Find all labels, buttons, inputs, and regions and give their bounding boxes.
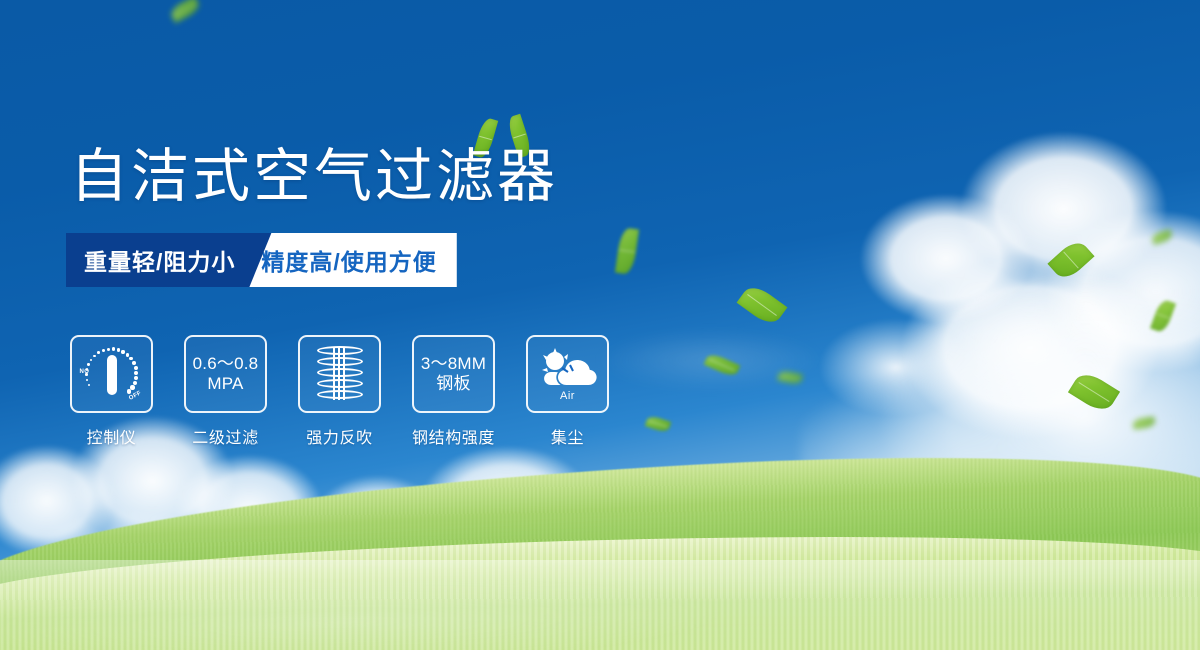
feature-label: 钢结构强度	[412, 424, 495, 448]
pressure-text-icon: 0.6〜0.8 MPA	[193, 354, 259, 394]
feature-icon-box	[298, 335, 381, 413]
feature-icon-box: Air	[526, 335, 609, 413]
feature-item-steel[interactable]: 3〜8MM 钢板 钢结构强度	[412, 335, 495, 448]
leaf-icon	[704, 352, 741, 379]
feature-label: 控制仪	[87, 424, 137, 448]
tagline-badge: 重量轻/阻力小 精度高/使用方便	[66, 233, 457, 287]
coil-ring	[317, 357, 363, 366]
gauge-tick	[127, 389, 131, 393]
leaf-icon	[777, 370, 803, 386]
gauge-tick	[107, 348, 110, 351]
tagline-badge-right: 精度高/使用方便	[249, 233, 456, 287]
hero-banner: 自洁式空气过滤器 重量轻/阻力小 精度高/使用方便 NO OFF 控制仪 0.6…	[0, 0, 1200, 650]
leaf-icon	[1047, 237, 1094, 283]
gauge-tick	[130, 385, 134, 389]
tagline-badge-left: 重量轻/阻力小	[66, 233, 271, 287]
cloud-sun-glyph	[537, 346, 599, 388]
leaf-icon	[615, 227, 639, 275]
gauge-tick	[112, 347, 115, 350]
gauge-tick	[117, 348, 120, 351]
gauge-tick	[85, 373, 87, 375]
steel-text-icon: 3〜8MM 钢板	[421, 354, 486, 394]
gauge-tick	[97, 351, 100, 354]
coil-ring	[317, 346, 363, 355]
feature-item-pressure[interactable]: 0.6〜0.8 MPA 二级过滤	[184, 335, 267, 448]
feature-item-dust[interactable]: Air 集尘	[526, 335, 609, 448]
gauge-tick	[90, 359, 93, 362]
leaf-icon	[1132, 417, 1155, 430]
gauge-tick	[134, 366, 138, 370]
coil-ring	[317, 379, 363, 388]
feature-item-blowback[interactable]: 强力反吹	[298, 335, 381, 448]
feature-label: 集尘	[551, 424, 584, 448]
gauge-icon: NO OFF	[81, 345, 143, 403]
cloud-sun-icon: Air	[537, 346, 599, 402]
gauge-needle	[107, 355, 117, 395]
feature-icon-box: 0.6〜0.8 MPA	[184, 335, 267, 413]
leaf-icon	[168, 0, 202, 23]
gauge-tick	[87, 363, 89, 365]
leaf-icon	[737, 282, 788, 329]
gauge-tick	[129, 357, 133, 361]
feature-list: NO OFF 控制仪 0.6〜0.8 MPA 二级过滤	[70, 335, 609, 448]
steel-material: 钢板	[421, 374, 486, 394]
gauge-tick	[86, 368, 88, 370]
coil-ring	[317, 390, 363, 399]
gauge-tick	[126, 353, 130, 357]
leaf-icon	[645, 415, 672, 434]
gauge-tick	[132, 361, 136, 365]
pressure-unit: MPA	[193, 374, 259, 394]
steel-thickness: 3〜8MM	[421, 354, 486, 374]
gauge-tick	[121, 350, 124, 353]
feature-label: 强力反吹	[306, 424, 372, 448]
gauge-tick	[93, 355, 96, 358]
gauge-tick	[134, 371, 138, 375]
feature-icon-box: NO OFF	[70, 335, 153, 413]
air-label: Air	[537, 390, 599, 403]
pressure-value: 0.6〜0.8	[193, 354, 259, 374]
coil-filter-icon	[317, 346, 363, 402]
gauge-tick	[134, 376, 138, 380]
gauge-tick	[102, 349, 105, 352]
feature-item-control[interactable]: NO OFF 控制仪	[70, 335, 153, 448]
gauge-tick	[86, 379, 88, 381]
gauge-tick	[88, 384, 90, 386]
leaf-icon	[1151, 229, 1173, 245]
feature-icon-box: 3〜8MM 钢板	[412, 335, 495, 413]
cloud-top-right	[820, 110, 1200, 440]
feature-label: 二级过滤	[192, 424, 258, 448]
leaf-icon	[1150, 298, 1176, 334]
page-title: 自洁式空气过滤器	[70, 145, 558, 210]
coil-ring	[317, 368, 363, 377]
leaf-icon	[1068, 368, 1120, 415]
